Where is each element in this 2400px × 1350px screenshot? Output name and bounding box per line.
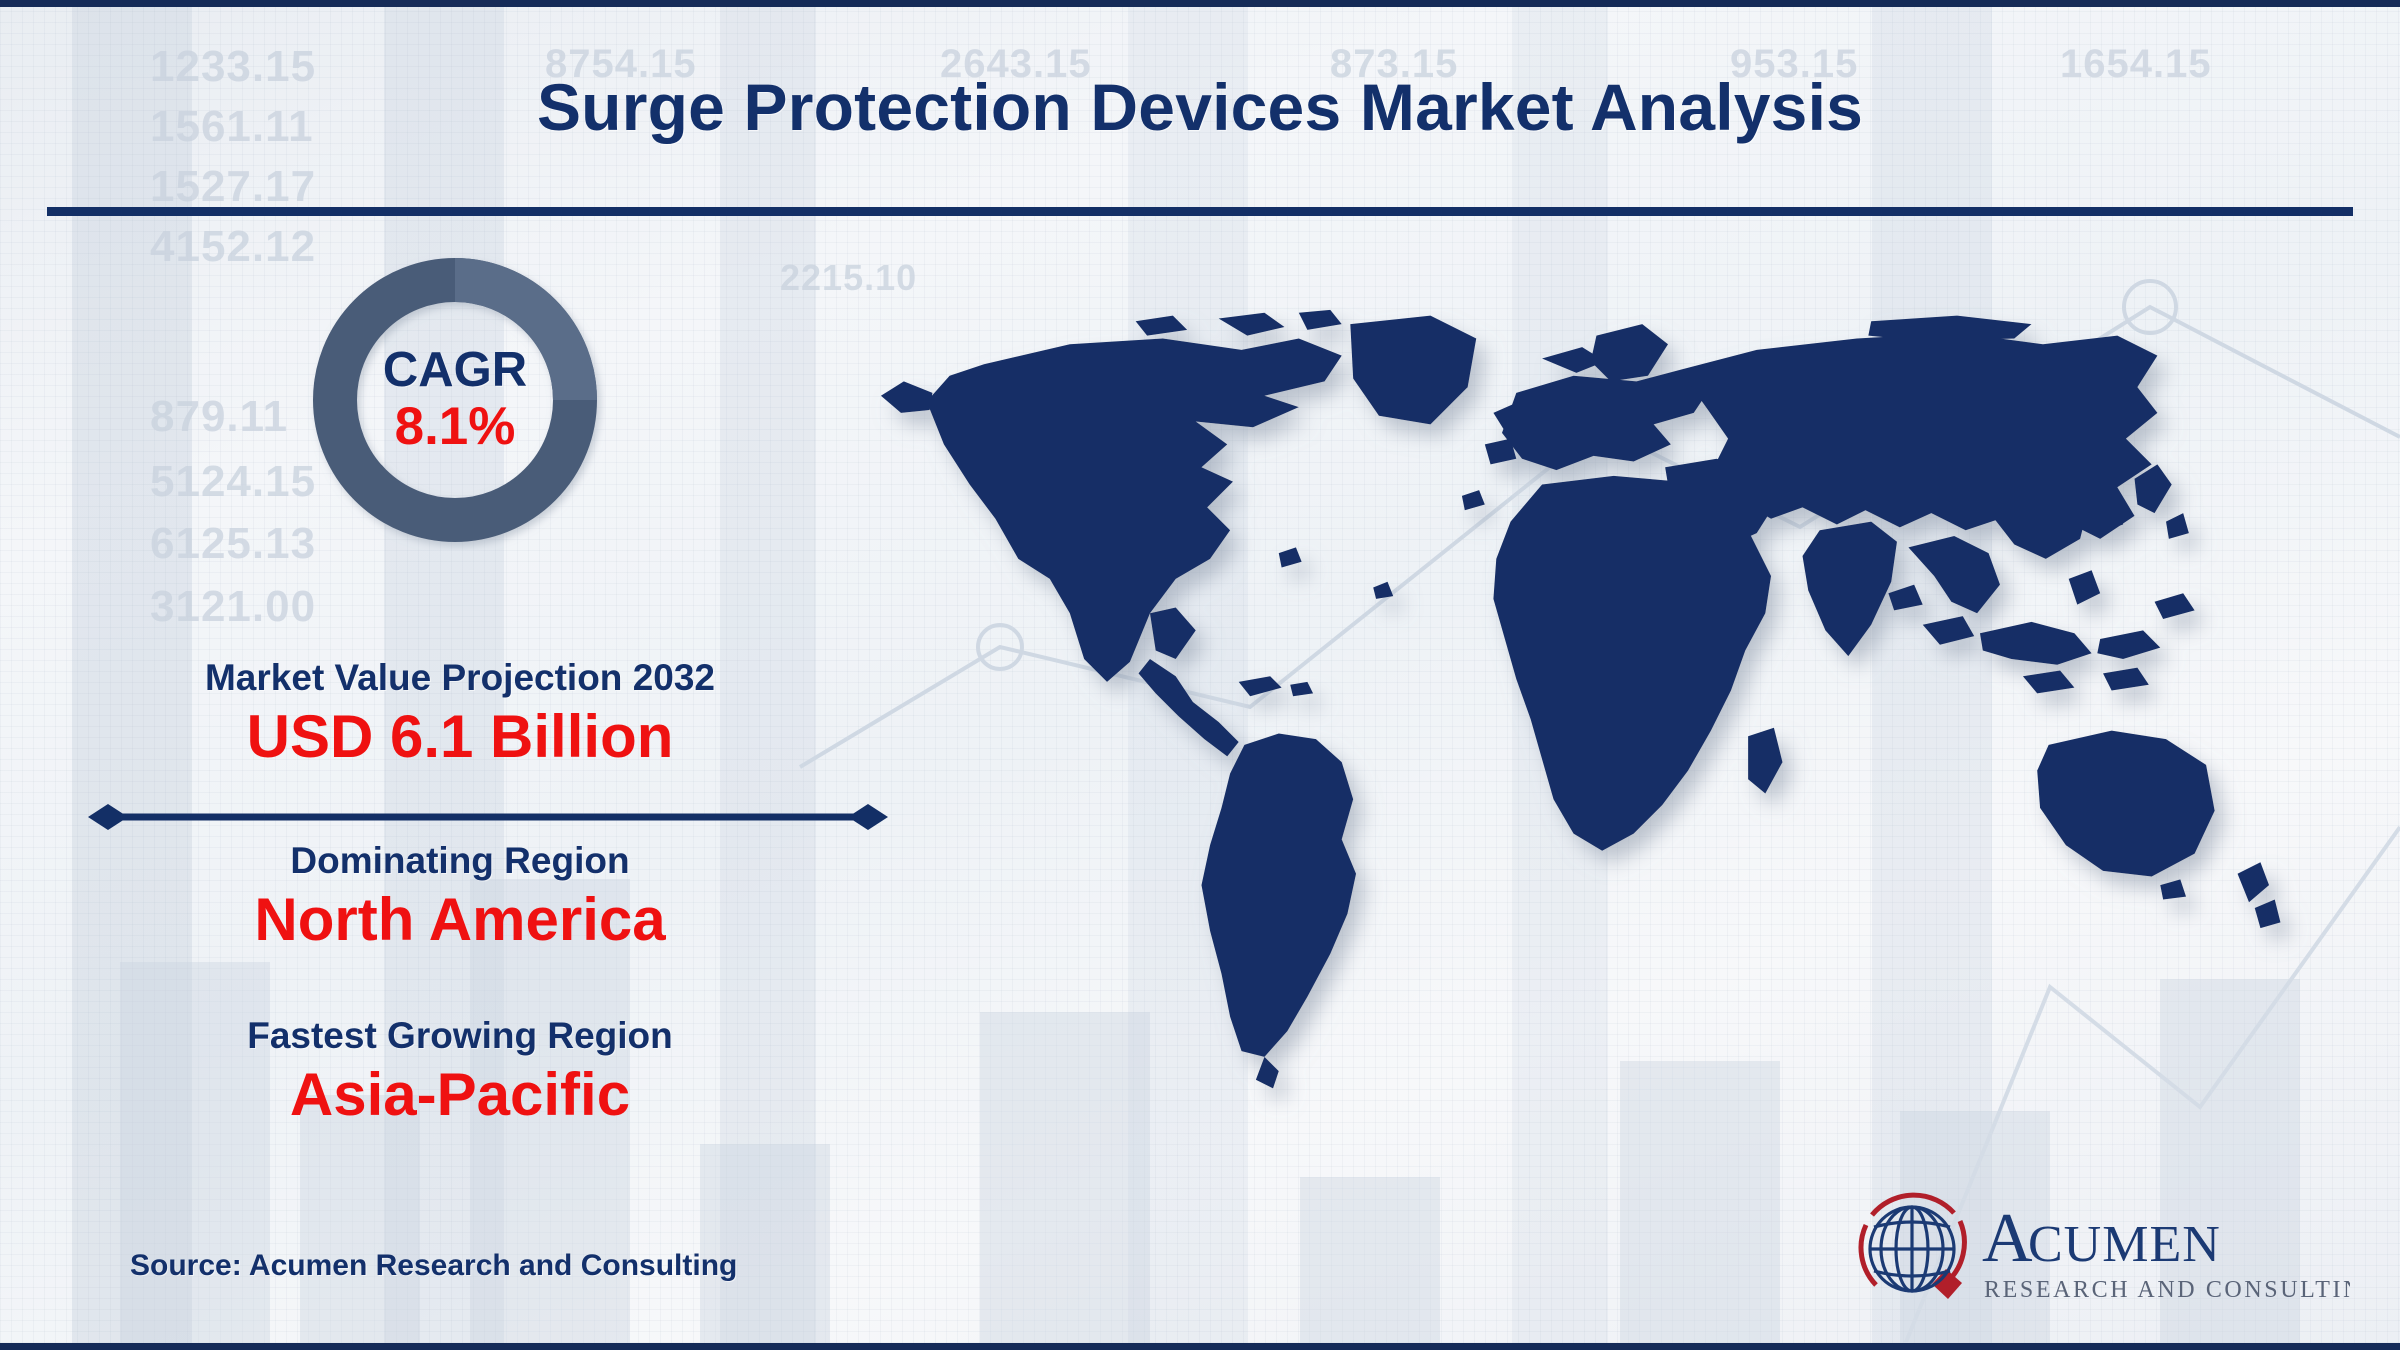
cagr-donut-chart: CAGR 8.1% [305, 250, 605, 550]
divider-right-diamond [848, 804, 888, 830]
world-map [860, 307, 2310, 1137]
ticker-number: 2215.10 [780, 257, 917, 299]
donut-center-label-group: CAGR 8.1% [305, 250, 605, 550]
map-landmasses [881, 310, 2281, 1088]
stat-value: North America [0, 886, 920, 953]
page-title: Surge Protection Devices Market Analysis [0, 69, 2400, 145]
stat-label: Dominating Region [0, 840, 920, 883]
cagr-value: 8.1% [395, 399, 516, 455]
cagr-label: CAGR [383, 345, 527, 396]
source-attribution: Source: Acumen Research and Consulting [130, 1249, 737, 1283]
stat-value: Asia-Pacific [0, 1061, 920, 1128]
section-divider-arrow [88, 802, 888, 832]
stat-dominating-region: Dominating Region North America [0, 840, 920, 953]
logo-tagline: RESEARCH AND CONSULTING [1984, 1277, 2350, 1303]
divider-left-diamond [88, 804, 128, 830]
logo-globe-icon [1870, 1207, 1954, 1291]
stat-label: Fastest Growing Region [0, 1015, 920, 1058]
logo-brand-initial: A [1982, 1200, 2033, 1277]
ticker-number: 1527.17 [150, 162, 316, 212]
infographic-canvas: 1233.15 1561.11 1527.17 4152.12 879.11 5… [0, 0, 2400, 1350]
ticker-number: 4152.12 [150, 222, 316, 272]
ticker-number: 879.11 [150, 392, 288, 442]
ticker-number: 5124.15 [150, 457, 316, 507]
title-divider-rule [47, 207, 2353, 216]
stat-label: Market Value Projection 2032 [0, 657, 920, 700]
stat-fastest-growing-region: Fastest Growing Region Asia-Pacific [0, 1015, 920, 1128]
logo-brand-text: CUMEN [2028, 1216, 2221, 1273]
stat-value: USD 6.1 Billion [0, 703, 920, 770]
stat-market-value-projection: Market Value Projection 2032 USD 6.1 Bil… [0, 657, 920, 770]
acumen-logo: A CUMEN RESEARCH AND CONSULTING [1850, 1187, 2350, 1312]
